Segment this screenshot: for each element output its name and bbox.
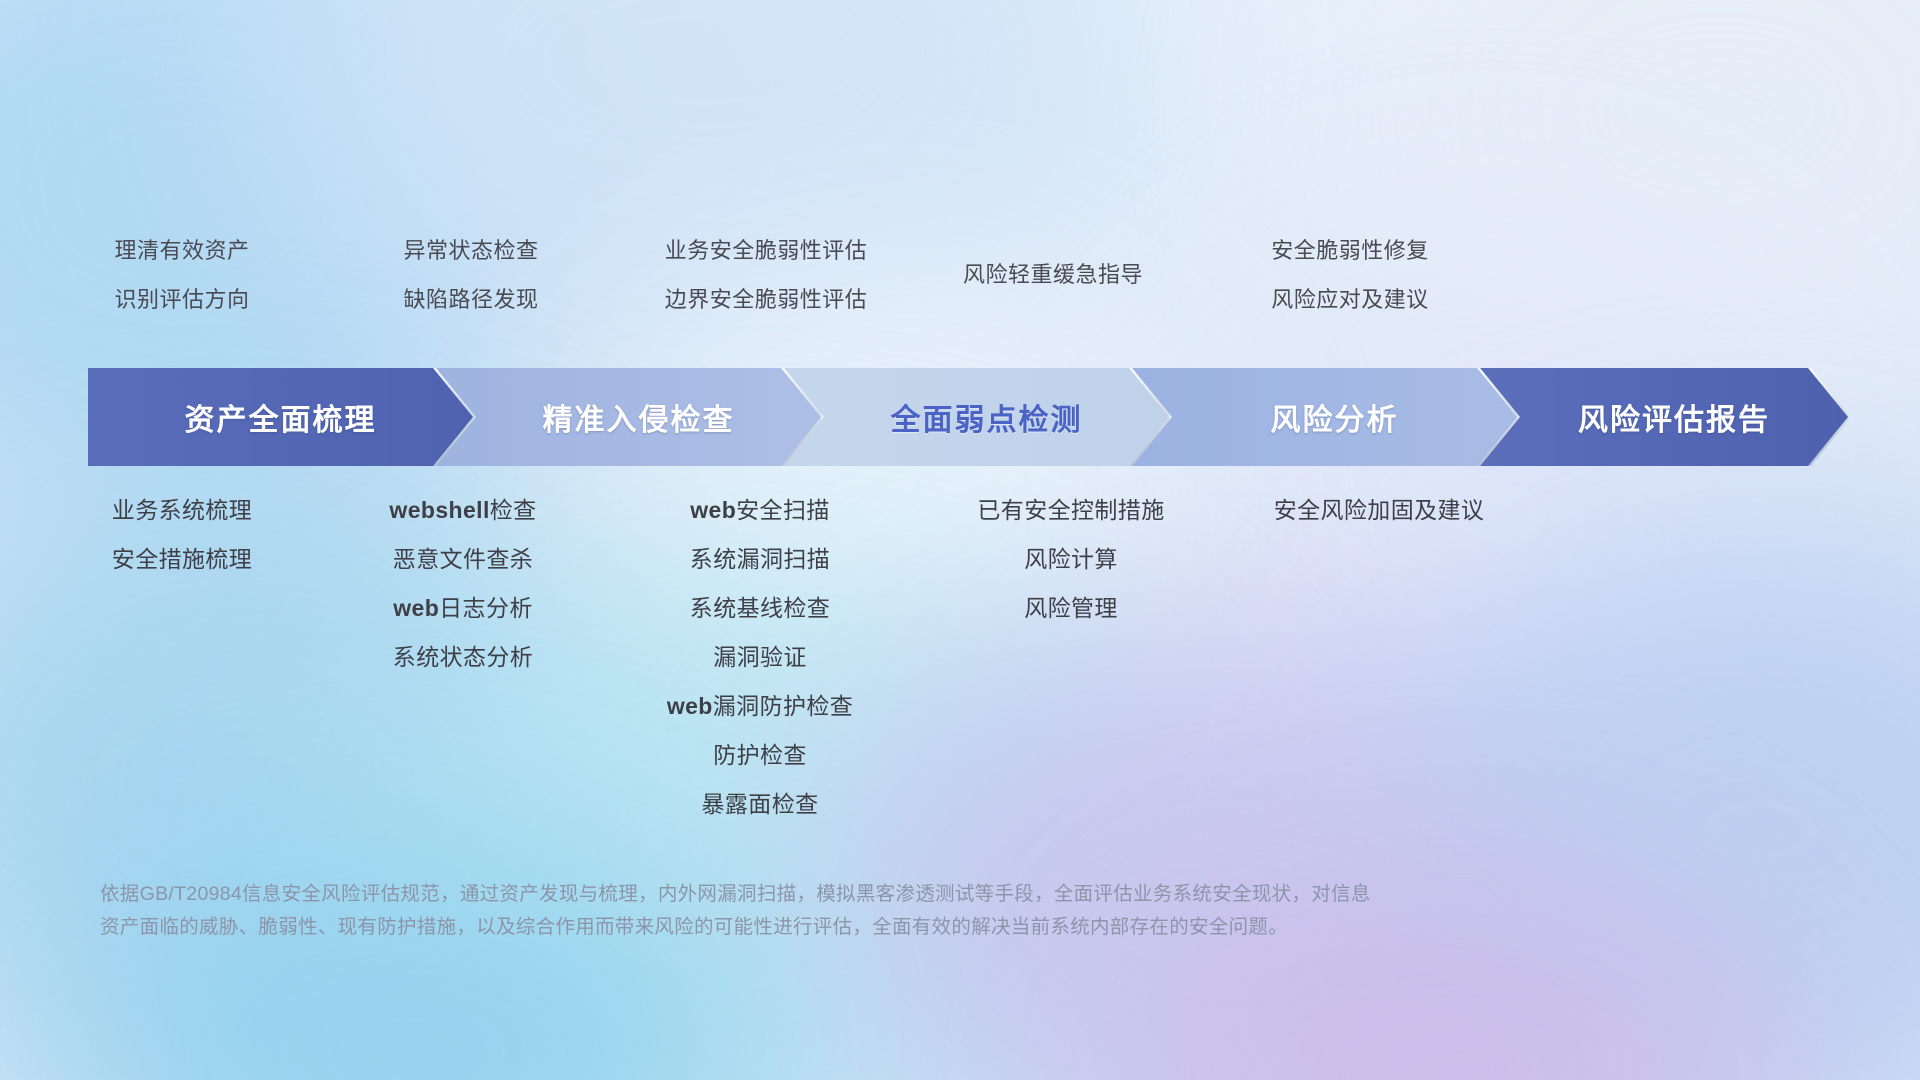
stage-detail-item: 恶意文件查杀 — [389, 535, 536, 584]
stage-detail-item-latin: web — [667, 693, 713, 719]
stage-detail-item: 安全风险加固及建议 — [1274, 486, 1485, 535]
arrow-label: 资产全面梳理 — [185, 395, 377, 439]
stage-detail-item-latin: web — [690, 497, 736, 523]
stage-detail-item-text: 安全措施梳理 — [112, 546, 252, 572]
stage-detail-item: 业务系统梳理 — [112, 486, 252, 535]
stage-detail-item-text: 已有安全控制措施 — [977, 497, 1164, 523]
process-arrow-band: 资产全面梳理精准入侵检查全面弱点检测风险分析风险评估报告 — [88, 368, 1848, 466]
stage-risk-report[interactable]: 风险评估报告 — [1480, 368, 1848, 466]
stage-detail-lists: 业务系统梳理安全措施梳理webshell检查恶意文件查杀web日志分析系统状态分… — [0, 486, 1920, 846]
stage-detail-item: 漏洞验证 — [667, 633, 853, 682]
stage-detail-item-text: 日志分析 — [439, 595, 533, 621]
stage-risk-analysis[interactable]: 风险分析 — [1132, 368, 1517, 466]
stage-intrusion-check[interactable]: 精准入侵检查 — [436, 368, 821, 466]
stage-detail-item-text: 暴露面检查 — [702, 791, 819, 817]
stage-detail-item-text: 检查 — [490, 497, 537, 523]
stage-detail-item-text: 安全扫描 — [736, 497, 830, 523]
stage-detail-item-latin: webshell — [389, 497, 489, 523]
stage-asset-inventory[interactable]: 资产全面梳理 — [88, 368, 473, 466]
top-caption-group: 安全脆弱性修复风险应对及建议 — [1271, 226, 1429, 324]
stage-detail-item: 风险计算 — [977, 535, 1164, 584]
arrow-label: 全面弱点检测 — [891, 395, 1083, 439]
stage-detail-list: 安全风险加固及建议 — [1274, 486, 1485, 535]
top-caption-line: 缺陷路径发现 — [403, 275, 538, 324]
stage-weakness-scan[interactable]: 全面弱点检测 — [784, 368, 1169, 466]
stage-detail-item-text: 风险管理 — [1024, 595, 1118, 621]
stage-detail-item: 暴露面检查 — [667, 780, 853, 829]
stage-detail-item: 系统状态分析 — [389, 633, 536, 682]
stage-detail-item-text: 漏洞验证 — [713, 644, 807, 670]
top-captions: 理清有效资产识别评估方向异常状态检查缺陷路径发现业务安全脆弱性评估边界安全脆弱性… — [0, 0, 1920, 300]
stage-detail-item-text: 漏洞防护检查 — [713, 693, 853, 719]
stage-detail-item: 风险管理 — [977, 584, 1164, 633]
top-caption-line: 风险应对及建议 — [1271, 275, 1429, 324]
stage-detail-item: 系统基线检查 — [667, 584, 853, 633]
top-caption-group: 理清有效资产识别评估方向 — [114, 226, 249, 324]
stage-detail-item-text: 业务系统梳理 — [112, 497, 252, 523]
top-caption-group: 异常状态检查缺陷路径发现 — [403, 226, 538, 324]
top-caption-line: 理清有效资产 — [114, 226, 249, 275]
stage-detail-item-text: 风险计算 — [1024, 546, 1118, 572]
stage-detail-item: web漏洞防护检查 — [667, 682, 853, 731]
top-caption-line: 业务安全脆弱性评估 — [665, 226, 868, 275]
top-caption-group: 业务安全脆弱性评估边界安全脆弱性评估 — [665, 226, 868, 324]
top-caption-line: 风险轻重缓急指导 — [963, 250, 1143, 299]
footer-description: 依据GB/T20984信息安全风险评估规范，通过资产发现与梳理，内外网漏洞扫描，… — [100, 878, 1630, 944]
stage-detail-list: 已有安全控制措施风险计算风险管理 — [977, 486, 1164, 633]
top-caption-line: 安全脆弱性修复 — [1271, 226, 1429, 275]
footer-line: 资产面临的威胁、脆弱性、现有防护措施，以及综合作用而带来风险的可能性进行评估，全… — [100, 911, 1630, 944]
arrow-label: 精准入侵检查 — [543, 395, 735, 439]
top-caption-line: 异常状态检查 — [403, 226, 538, 275]
stage-detail-item-text: 防护检查 — [713, 742, 807, 768]
stage-detail-item-latin: web — [393, 595, 439, 621]
footer-line: 依据GB/T20984信息安全风险评估规范，通过资产发现与梳理，内外网漏洞扫描，… — [100, 878, 1630, 911]
stage-detail-list: 业务系统梳理安全措施梳理 — [112, 486, 252, 584]
top-caption-line: 边界安全脆弱性评估 — [665, 275, 868, 324]
arrow-label: 风险分析 — [1271, 395, 1399, 439]
stage-detail-item: 系统漏洞扫描 — [667, 535, 853, 584]
infographic-root: 理清有效资产识别评估方向异常状态检查缺陷路径发现业务安全脆弱性评估边界安全脆弱性… — [0, 0, 1920, 1080]
stage-detail-item: 已有安全控制措施 — [977, 486, 1164, 535]
stage-detail-item-text: 安全风险加固及建议 — [1274, 497, 1485, 523]
stage-detail-item-text: 系统基线检查 — [690, 595, 830, 621]
arrow-label: 风险评估报告 — [1578, 395, 1770, 439]
stage-detail-item: web日志分析 — [389, 584, 536, 633]
stage-detail-list: web安全扫描系统漏洞扫描系统基线检查漏洞验证web漏洞防护检查防护检查暴露面检… — [667, 486, 853, 829]
stage-detail-item-text: 系统漏洞扫描 — [690, 546, 830, 572]
stage-detail-item-text: 系统状态分析 — [393, 644, 533, 670]
stage-detail-item: 安全措施梳理 — [112, 535, 252, 584]
stage-detail-item: 防护检查 — [667, 731, 853, 780]
stage-detail-list: webshell检查恶意文件查杀web日志分析系统状态分析 — [389, 486, 536, 682]
stage-detail-item: web安全扫描 — [667, 486, 853, 535]
top-caption-line: 识别评估方向 — [114, 275, 249, 324]
stage-detail-item: webshell检查 — [389, 486, 536, 535]
top-caption-group: 风险轻重缓急指导 — [963, 250, 1143, 299]
stage-detail-item-text: 恶意文件查杀 — [393, 546, 533, 572]
